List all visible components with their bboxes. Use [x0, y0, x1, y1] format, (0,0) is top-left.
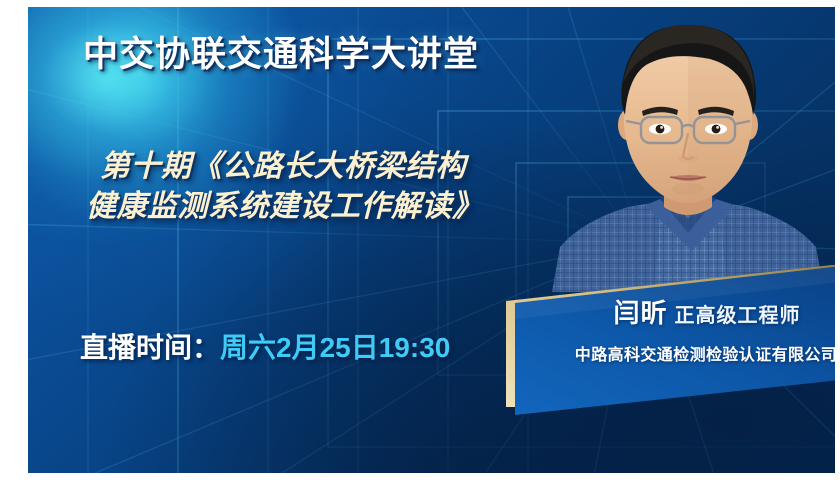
- live-time-label: 直播时间：: [80, 332, 220, 363]
- speaker-info-card: 闫昕 正高级工程师 中路高科交通检测检验认证有限公司: [498, 265, 835, 435]
- webinar-poster: 中交协联交通科学大讲堂 第十期《公路长大桥梁结构 健康监测系统建设工作解读》 直…: [28, 7, 835, 473]
- subtitle-line-1: 第十期《公路长大桥梁结构: [86, 147, 586, 187]
- speaker-rank: 正高级工程师: [675, 299, 801, 328]
- subtitle-line-2: 健康监测系统建设工作解读》: [86, 187, 586, 227]
- page-title: 中交协联交通科学大讲堂: [83, 37, 479, 72]
- live-time-value: 周六2月25日19:30: [220, 332, 450, 363]
- speaker-name-row: 闫昕 正高级工程师: [613, 293, 800, 330]
- speaker-organization: 中路高科交通检测检验认证有限公司: [575, 341, 835, 365]
- live-time-line: 直播时间：周六2月25日19:30: [80, 334, 450, 362]
- speaker-name: 闫昕: [613, 293, 667, 330]
- subtitle: 第十期《公路长大桥梁结构 健康监测系统建设工作解读》: [86, 147, 586, 227]
- poster-frame: 中交协联交通科学大讲堂 第十期《公路长大桥梁结构 健康监测系统建设工作解读》 直…: [0, 0, 840, 480]
- speaker-text-block: 闫昕 正高级工程师 中路高科交通检测检验认证有限公司: [498, 265, 835, 435]
